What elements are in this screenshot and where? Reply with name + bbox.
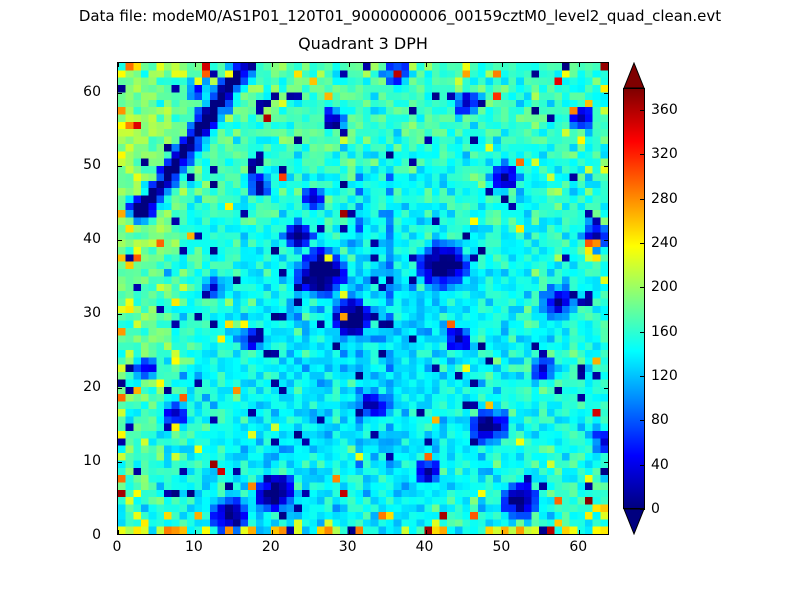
y-tick-right — [604, 240, 608, 241]
x-tick-top — [195, 63, 196, 67]
x-tick-top — [579, 63, 580, 67]
colorbar-tick-label: 40 — [651, 457, 669, 473]
y-tick-label: 50 — [83, 157, 101, 173]
heatmap-image — [118, 63, 608, 534]
x-tick-label: 30 — [339, 539, 357, 555]
x-tick-top — [349, 63, 350, 67]
colorbar-tick — [640, 199, 645, 200]
colorbar-tick — [640, 332, 645, 333]
colorbar-tick — [640, 243, 645, 244]
colorbar-tick — [640, 465, 645, 466]
colorbar-tick-label: 200 — [651, 279, 678, 295]
y-tick-label: 60 — [83, 84, 101, 100]
y-tick-right — [604, 462, 608, 463]
y-tick — [118, 166, 122, 167]
y-tick-label: 10 — [83, 453, 101, 469]
x-tick — [579, 530, 580, 534]
colorbar-under-arrow-icon — [623, 508, 645, 535]
colorbar-gradient — [624, 89, 644, 508]
page-title: Quadrant 3 DPH — [117, 34, 609, 54]
colorbar-tick-label: 240 — [651, 235, 678, 251]
colorbar-tick-label: 120 — [651, 368, 678, 384]
y-tick — [118, 462, 122, 463]
x-tick — [272, 530, 273, 534]
y-tick-label: 0 — [92, 527, 101, 543]
x-tick — [118, 530, 119, 534]
x-tick-label: 60 — [569, 539, 587, 555]
colorbar-body — [623, 88, 645, 509]
x-tick — [502, 530, 503, 534]
colorbar-tick-label: 360 — [651, 102, 678, 118]
y-tick — [118, 240, 122, 241]
x-tick-top — [426, 63, 427, 67]
y-tick-label: 20 — [83, 379, 101, 395]
y-tick-right — [604, 388, 608, 389]
y-tick-right — [604, 93, 608, 94]
x-tick-label: 10 — [185, 539, 203, 555]
x-tick — [349, 530, 350, 534]
x-tick-label: 20 — [262, 539, 280, 555]
x-tick — [195, 530, 196, 534]
x-tick — [426, 530, 427, 534]
x-tick-label: 0 — [113, 539, 122, 555]
y-tick — [118, 314, 122, 315]
colorbar-tick — [640, 376, 645, 377]
colorbar-tick-label: 0 — [651, 501, 660, 517]
colorbar-tick-label: 80 — [651, 412, 669, 428]
data-file-title: Data file: modeM0/AS1P01_120T01_90000000… — [0, 7, 800, 26]
colorbar-tick — [640, 509, 645, 510]
heatmap-axes — [117, 62, 609, 535]
x-tick-label: 50 — [492, 539, 510, 555]
x-tick-top — [118, 63, 119, 67]
x-tick-top — [502, 63, 503, 67]
y-tick — [118, 93, 122, 94]
colorbar-tick — [640, 110, 645, 111]
colorbar-over-arrow-icon — [623, 62, 645, 89]
colorbar-tick-label: 320 — [651, 146, 678, 162]
y-tick-right — [604, 166, 608, 167]
colorbar-tick-label: 160 — [651, 324, 678, 340]
x-tick-top — [272, 63, 273, 67]
x-tick-label: 40 — [416, 539, 434, 555]
y-tick-right — [604, 314, 608, 315]
y-tick-label: 30 — [83, 305, 101, 321]
figure-canvas: Data file: modeM0/AS1P01_120T01_90000000… — [0, 0, 800, 600]
colorbar-tick-label: 280 — [651, 191, 678, 207]
colorbar-tick — [640, 420, 645, 421]
colorbar-tick — [640, 154, 645, 155]
colorbar-tick — [640, 287, 645, 288]
y-tick-label: 40 — [83, 231, 101, 247]
y-tick — [118, 388, 122, 389]
